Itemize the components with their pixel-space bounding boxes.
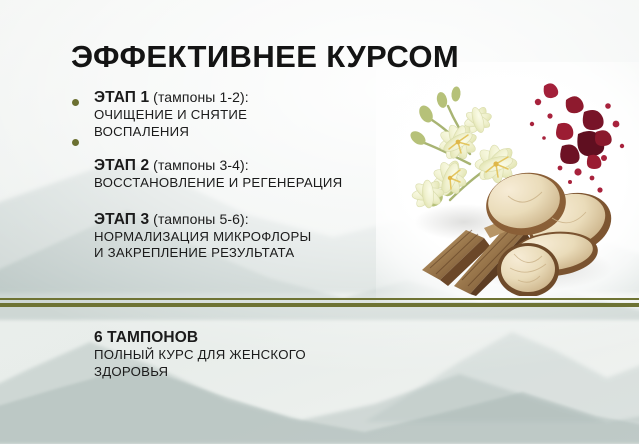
stage-3-title: ЭТАП 3 [94,211,149,228]
stage-3-heading: ЭТАП 3 (тампоны 5-6): [94,210,428,229]
footer-title: 6 ТАМПОНОВ [94,328,424,347]
herbal-collage-photo [392,72,636,296]
stage-item-2: ЭТАП 2 (тампоны 3-4): ВОССТАНОВЛЕНИЕ И Р… [68,156,428,192]
stage-list: ЭТАП 1 (тампоны 1-2): ОЧИЩЕНИЕ И СНЯТИЕ … [68,88,428,262]
section-divider [0,298,639,307]
stage-3-subtitle: (тампоны 5-6): [149,211,249,227]
photo-artwork [392,72,636,296]
stage-2-heading: ЭТАП 2 (тампоны 3-4): [94,156,428,175]
bullet-icon [72,99,79,106]
stage-item-3: ЭТАП 3 (тампоны 5-6): НОРМАЛИЗАЦИЯ МИКРО… [68,210,428,262]
stage-2-title: ЭТАП 2 [94,157,149,174]
stage-1-body: ОЧИЩЕНИЕ И СНЯТИЕ ВОСПАЛЕНИЯ [94,107,428,140]
stage-1-title: ЭТАП 1 [94,89,149,106]
page-title: ЭФФЕКТИВНЕЕ КУРСОМ [71,38,459,76]
stage-2-subtitle: (тампоны 3-4): [149,157,249,173]
footer-block: 6 ТАМПОНОВ ПОЛНЫЙ КУРС ДЛЯ ЖЕНСКОГО ЗДОР… [94,328,424,380]
stage-1-subtitle: (тампоны 1-2): [149,89,249,105]
divider-line-thick [0,303,639,307]
bullet-icon [72,139,79,146]
stage-2-body: ВОССТАНОВЛЕНИЕ И РЕГЕНЕРАЦИЯ [94,175,428,192]
stage-1-heading: ЭТАП 1 (тампоны 1-2): [94,88,428,107]
footer-subtitle: ПОЛНЫЙ КУРС ДЛЯ ЖЕНСКОГО ЗДОРОВЬЯ [94,347,424,380]
stage-item-1: ЭТАП 1 (тампоны 1-2): ОЧИЩЕНИЕ И СНЯТИЕ … [68,88,428,140]
slide-canvas: ЭФФЕКТИВНЕЕ КУРСОМ ЭТАП 1 (тампоны 1-2):… [0,0,639,444]
stage-3-body: НОРМАЛИЗАЦИЯ МИКРОФЛОРЫ И ЗАКРЕПЛЕНИЕ РЕ… [94,229,428,262]
